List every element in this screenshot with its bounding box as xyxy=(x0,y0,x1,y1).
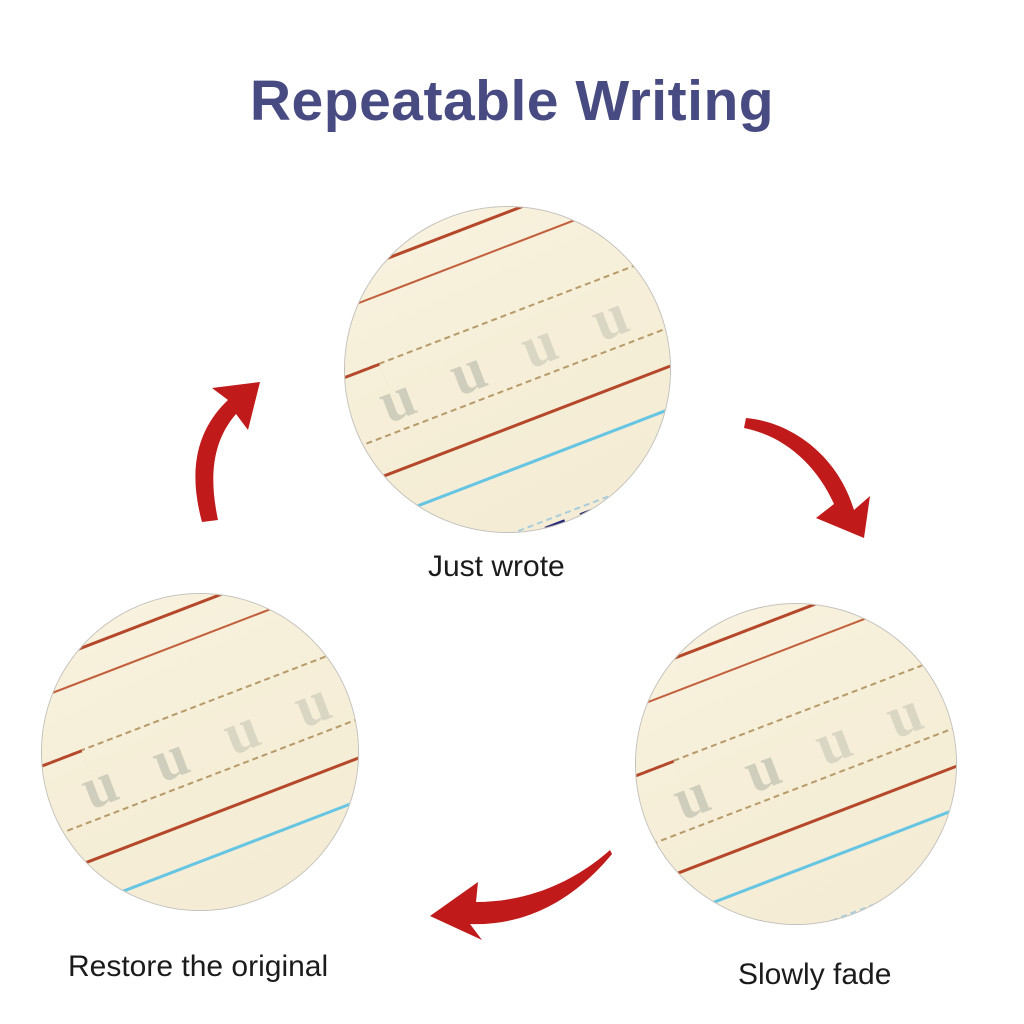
worksheet-page-top: u u u u u V V V V V xyxy=(345,207,670,532)
arrow-bottom-left-shape xyxy=(430,850,612,940)
caption-restore-the-original: Restore the original xyxy=(68,950,328,984)
worksheet-page-restored: u u u u u V V V V V 癸 xyxy=(42,594,358,910)
caption-just-wrote: Just wrote xyxy=(428,550,565,584)
arrow-left-up xyxy=(162,372,292,522)
worksheet-page-fade: u u u u u V V V V V V 癸 xyxy=(636,604,956,924)
step-circle-just-wrote: u u u u u V V V V V xyxy=(345,207,670,532)
page-title: Repeatable Writing xyxy=(0,72,1024,132)
step-circle-slowly-fade: u u u u u V V V V V V 癸 xyxy=(636,604,956,924)
arrow-left-up-shape xyxy=(195,382,260,522)
caption-slowly-fade: Slowly fade xyxy=(738,958,891,992)
infographic-canvas: Repeatable Writing u u u u u xyxy=(0,0,1024,1024)
arrow-right-down xyxy=(742,378,882,538)
arrow-right-down-shape xyxy=(744,418,870,538)
arrow-bottom-left xyxy=(424,848,614,958)
step-circle-restore-the-original: u u u u u V V V V V 癸 xyxy=(42,594,358,910)
